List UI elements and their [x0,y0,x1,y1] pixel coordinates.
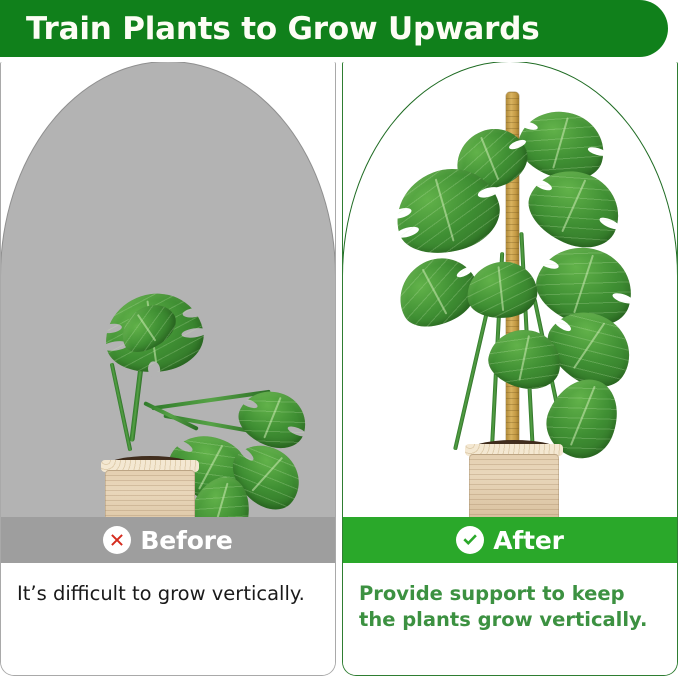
plant-pot [469,454,559,517]
after-label-text: After [493,526,563,555]
plant-leaf [518,156,631,259]
x-circle-icon [103,526,131,554]
pot-ribs [469,454,559,517]
panel-after: After Provide support to keep the plants… [342,62,678,676]
pot-ribs [105,470,195,517]
after-image-stage [343,62,677,517]
header-banner: Train Plants to Grow Upwards [0,0,668,57]
page-title: Train Plants to Grow Upwards [26,11,539,47]
after-caption-text: Provide support to keep the plants grow … [359,581,663,633]
before-caption-text: It’s difficult to grow vertically. [17,581,321,607]
check-circle-icon [456,526,484,554]
before-label-text: Before [140,526,232,555]
after-plant-image [343,62,677,517]
plant-leaf [464,258,539,321]
panel-before: Before It’s difficult to grow vertically… [0,62,336,676]
plant-stem [453,294,493,451]
plant-pot [105,470,195,517]
before-image-stage [1,62,335,517]
before-plant-image [1,62,335,517]
after-caption-box: Provide support to keep the plants grow … [343,563,677,675]
after-label-bar: After [343,517,677,563]
plant-stem [110,363,133,452]
before-caption-box: It’s difficult to grow vertically. [1,563,335,675]
comparison-panels: Before It’s difficult to grow vertically… [0,62,679,678]
before-label-bar: Before [1,517,335,563]
